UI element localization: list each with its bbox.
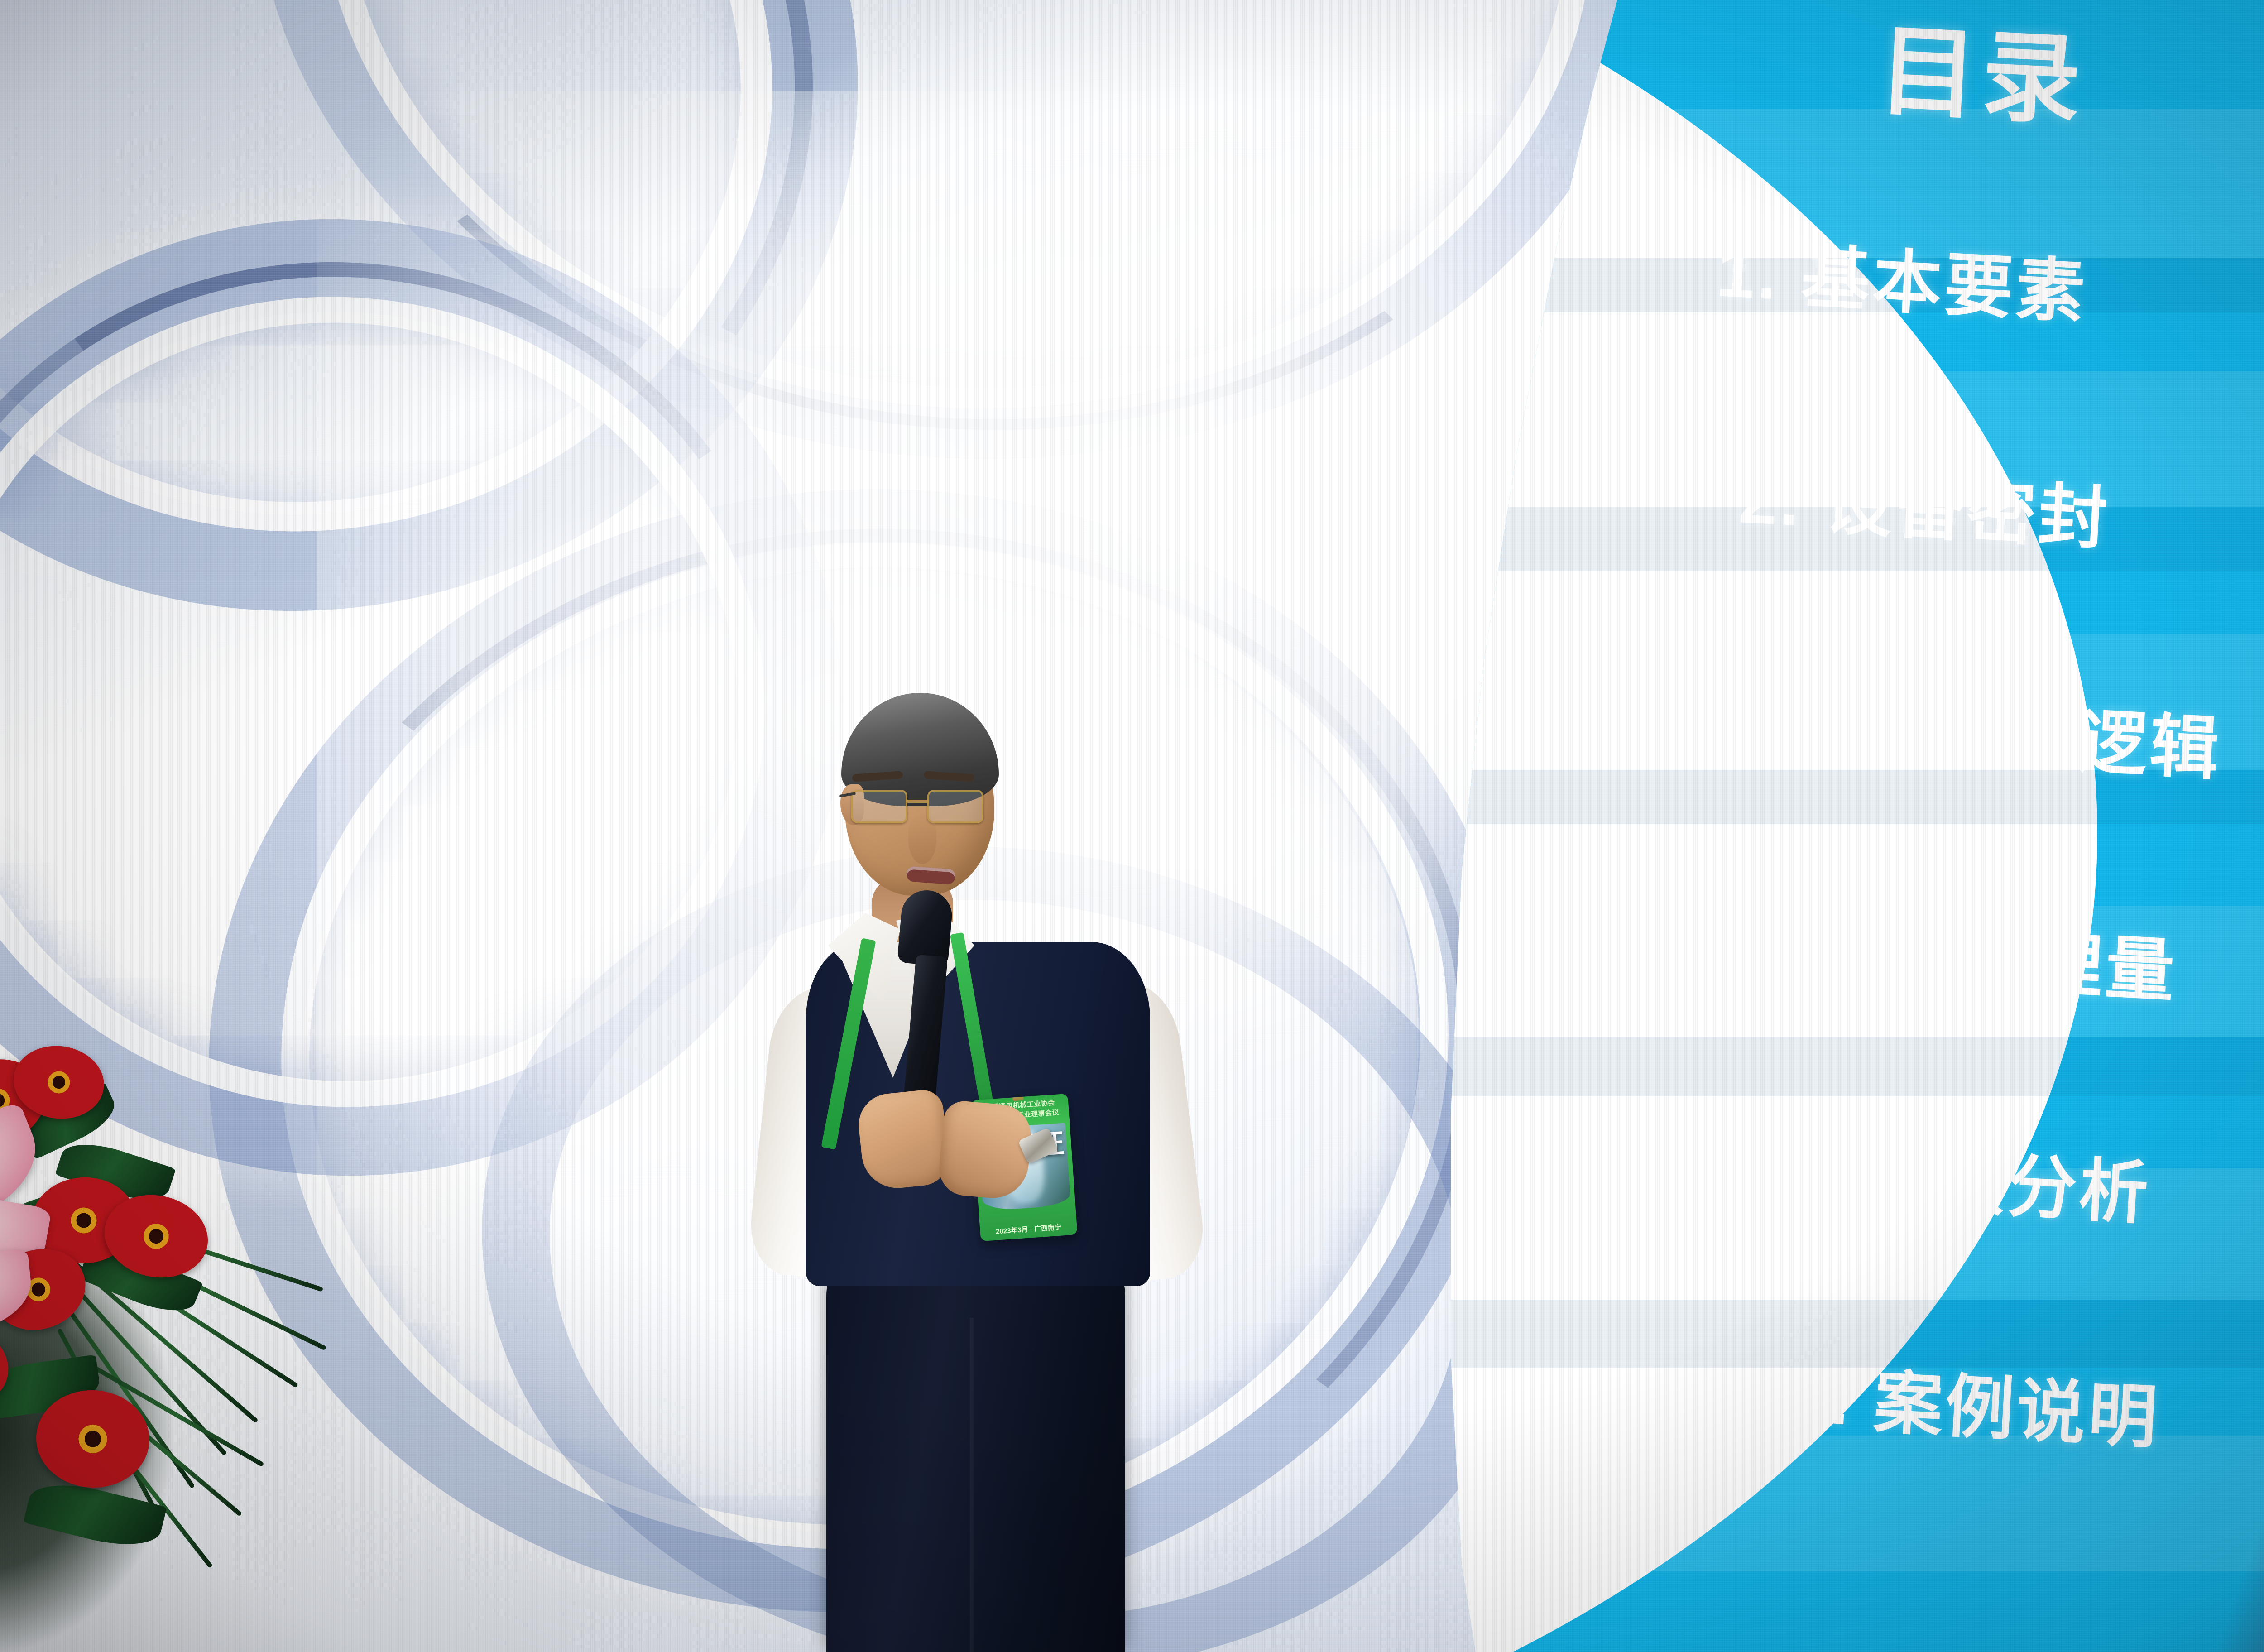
stage-flower-arrangement bbox=[0, 1046, 281, 1652]
glasses-lens-left bbox=[851, 790, 907, 823]
badge-footer: 2023年3月 · 广西南宁 bbox=[980, 1221, 1077, 1237]
speaker-nose bbox=[908, 815, 936, 864]
presentation-photo: 目录 1. 基本要素 2. 设备密封 3. 密封物理逻辑 4. 密封物理量 5.… bbox=[0, 0, 2264, 1652]
glasses-lens-right bbox=[927, 790, 983, 823]
stage-edge-shadow bbox=[2161, 1516, 2264, 1652]
speaker: 中国通用机械工业协会 密封制品分行业理事会议 代表证 2023年3月 · 广西南… bbox=[711, 625, 1245, 1652]
speaker-hand-right bbox=[937, 1100, 1033, 1201]
glasses-bridge bbox=[906, 800, 929, 803]
speaker-trousers bbox=[826, 1263, 1125, 1652]
